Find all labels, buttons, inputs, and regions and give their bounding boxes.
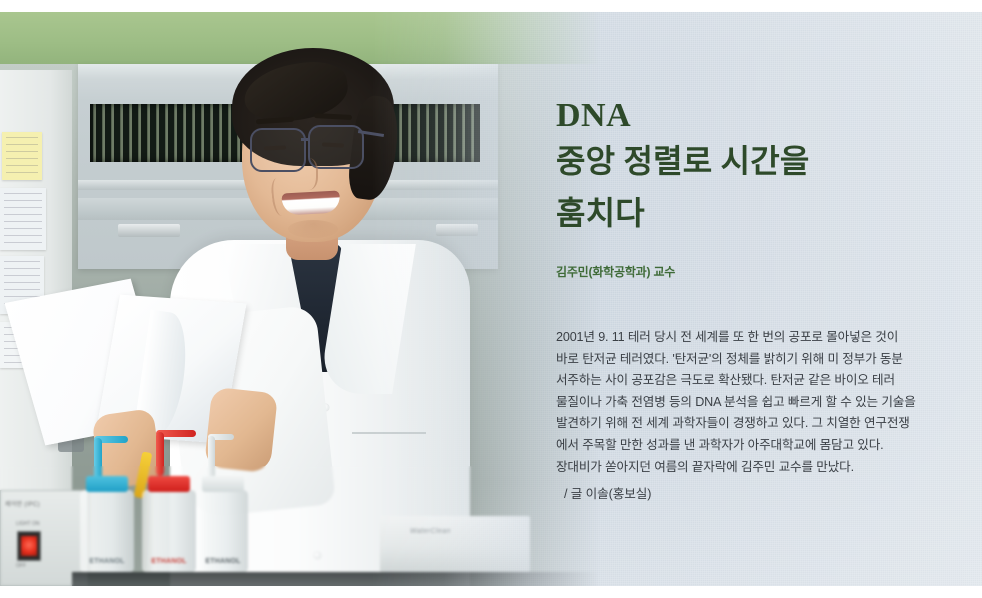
bottle-cap [86,476,128,492]
nose [296,158,318,190]
coat-pocket [352,432,426,434]
red-wash-bottle: ETHANOL [142,490,196,572]
coat-button [314,552,321,559]
hand-right [204,387,278,473]
clear-wash-bottle: ETHANOL [196,490,248,572]
article-byline: 김주민(화학공학과) 교수 [556,263,675,280]
article-body: 2001년 9. 11 테러 당시 전 세계를 또 한 번의 공포로 몰아넣은 … [556,327,952,478]
bottle-label: ETHANOL [198,558,248,565]
lab-bench-edge [72,572,600,586]
lab-equipment-unit: WaterClean [380,516,530,572]
bottle-spout [156,432,164,476]
bottle-cap [202,476,244,492]
equipment-brand-label: WaterClean [410,528,451,535]
eyeglasses-bridge [301,138,310,141]
body-line: 바로 탄저균 테러였다. '탄저균'의 정체를 밝히기 위해 미 정부가 동분 [556,349,952,371]
eyeglasses-lens-right [308,125,364,169]
headline-line-3: 훔치다 [556,197,645,229]
article-hero-banner: 제어반 (IPC) LIGHT ON OFF [0,0,982,598]
body-line: 물질이나 가축 전염병 등의 DNA 분석을 쉽고 빠르게 할 수 있는 기술을 [556,392,952,414]
blue-wash-bottle: ETHANOL [80,490,134,572]
body-line: 발견하기 위해 전 세계 과학자들이 경쟁하고 있다. 그 치열한 연구전쟁 [556,413,952,435]
headline-line-1: DNA [556,99,631,133]
headline-line-2: 중앙 정렬로 시간을 [556,145,810,177]
bottom-white-border [0,586,982,598]
bottle-spout [208,436,215,480]
body-line: 2001년 9. 11 테러 당시 전 세계를 또 한 번의 공포로 몰아넣은 … [556,327,952,349]
bottle-label: ETHANOL [82,558,132,565]
body-line: 에서 주목할 만한 성과를 낸 과학자가 아주대학교에 몸담고 있다. [556,435,952,457]
chin [288,220,338,238]
bottle-cap [148,476,190,492]
bottle-label: ETHANOL [144,558,194,565]
top-white-border [0,0,982,12]
body-line: 장대비가 쏟아지던 여름의 끝자락에 김주민 교수를 만났다. [556,457,952,479]
body-line: 서주하는 사이 공포감은 극도로 확산됐다. 탄저균 같은 바이오 테러 [556,370,952,392]
article-credit: / 글 이솔(홍보실) [564,483,651,502]
professor-photo: 제어반 (IPC) LIGHT ON OFF [0,12,600,586]
